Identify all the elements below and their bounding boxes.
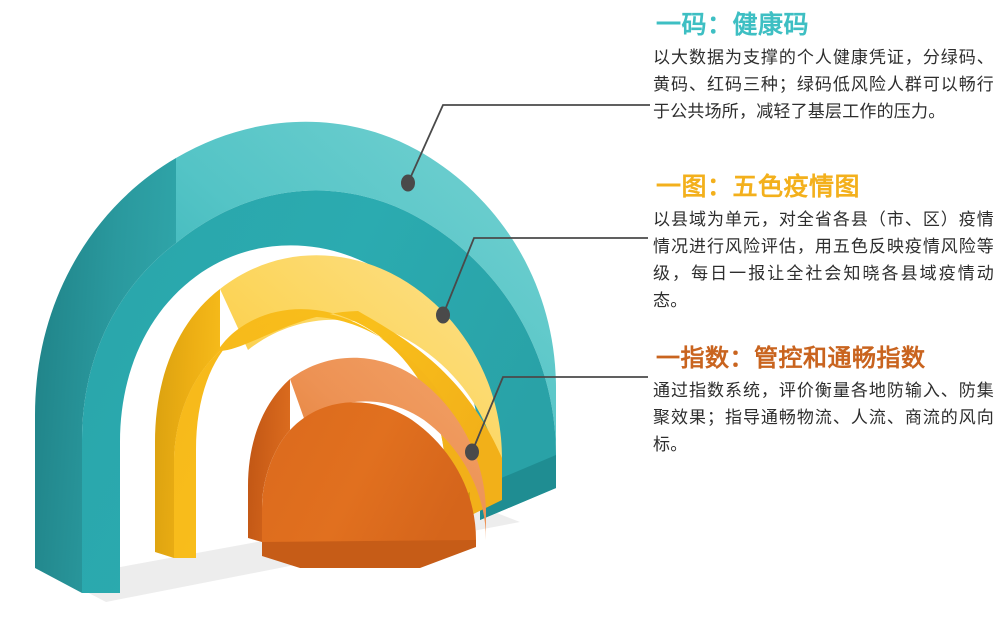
callout-body-five-color-map: 以县域为单元，对全省各县（市、区）疫情情况进行风险评估，用五色反映疫情风险等级，… xyxy=(653,207,994,314)
callout-five-color-map: 一图：五色疫情图 以县域为单元，对全省各县（市、区）疫情情况进行风险评估，用五色… xyxy=(650,172,994,315)
callout-body-control-index: 通过指数系统，评价衡量各地防输入、防集聚效果；指导通畅物流、人流、商流的风向标。 xyxy=(653,378,994,459)
callout-health-code: 一码：健康码 以大数据为支撑的个人健康凭证，分绿码、黄码、红码三种；绿码低风险人… xyxy=(650,10,994,126)
orange-bottom-band xyxy=(262,540,476,568)
callout-body-health-code: 以大数据为支撑的个人健康凭证，分绿码、黄码、红码三种；绿码低风险人群可以畅行于公… xyxy=(653,45,994,126)
callout-title-control-index: 一指数：管控和通畅指数 xyxy=(656,344,994,374)
infographic-stage: 一码：健康码 以大数据为支撑的个人健康凭证，分绿码、黄码、红码三种；绿码低风险人… xyxy=(0,0,997,621)
layered-dome-graphic xyxy=(0,0,640,621)
dome-svg xyxy=(0,0,640,621)
callout-title-health-code: 一码：健康码 xyxy=(656,10,994,41)
callout-title-five-color-map: 一图：五色疫情图 xyxy=(656,172,994,203)
callout-control-index: 一指数：管控和通畅指数 通过指数系统，评价衡量各地防输入、防集聚效果；指导通畅物… xyxy=(650,344,994,459)
